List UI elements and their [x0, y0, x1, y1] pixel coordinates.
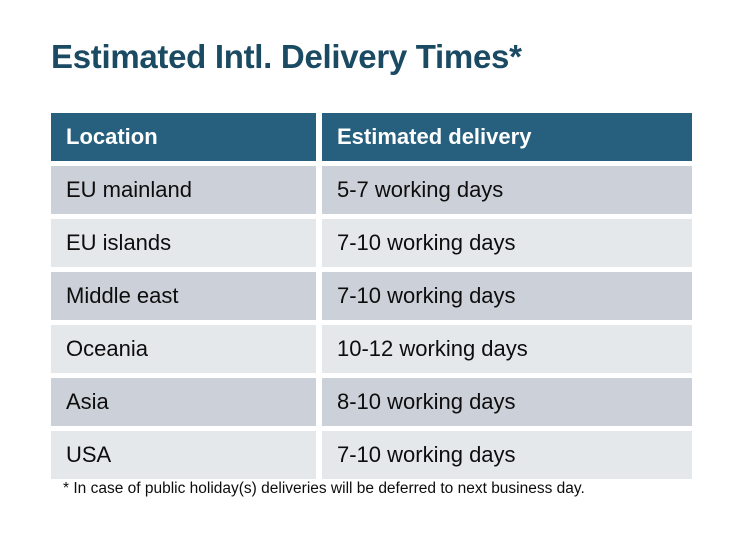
cell-estimated-delivery: 7-10 working days	[322, 272, 692, 320]
table-row: Oceania 10-12 working days	[51, 325, 692, 373]
cell-estimated-delivery: 7-10 working days	[322, 219, 692, 267]
cell-location: Asia	[51, 378, 316, 426]
table-row: EU islands 7-10 working days	[51, 219, 692, 267]
cell-estimated-delivery: 10-12 working days	[322, 325, 692, 373]
page-title: Estimated Intl. Delivery Times*	[51, 37, 522, 77]
footnote-text: * In case of public holiday(s) deliverie…	[63, 479, 585, 499]
delivery-times-page: Estimated Intl. Delivery Times* Location…	[0, 0, 745, 536]
cell-estimated-delivery: 7-10 working days	[322, 431, 692, 479]
cell-location: USA	[51, 431, 316, 479]
estimated-delivery-times-table: Location Estimated delivery EU mainland …	[51, 113, 692, 479]
cell-estimated-delivery: 5-7 working days	[322, 166, 692, 214]
table-row: USA 7-10 working days	[51, 431, 692, 479]
column-header-location: Location	[51, 113, 316, 161]
cell-estimated-delivery: 8-10 working days	[322, 378, 692, 426]
table-row: Middle east 7-10 working days	[51, 272, 692, 320]
table-row: Asia 8-10 working days	[51, 378, 692, 426]
cell-location: EU islands	[51, 219, 316, 267]
column-header-estimated-delivery: Estimated delivery	[322, 113, 692, 161]
table-header-row: Location Estimated delivery	[51, 113, 692, 161]
table-row: EU mainland 5-7 working days	[51, 166, 692, 214]
cell-location: EU mainland	[51, 166, 316, 214]
cell-location: Oceania	[51, 325, 316, 373]
cell-location: Middle east	[51, 272, 316, 320]
